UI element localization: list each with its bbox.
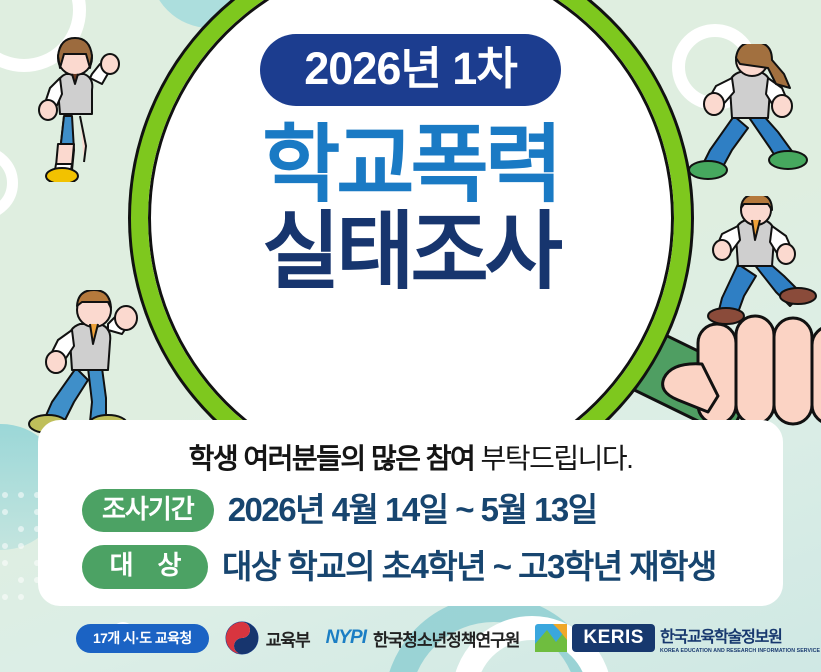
target-value: 대상 학교의 초4학년 ~ 고3학년 재학생 <box>222 549 716 585</box>
nypi-logo: NYPI 한국청소년정책연구원 <box>326 626 520 651</box>
keris-emblem-icon <box>535 624 567 652</box>
footer-logos: 17개 시·도 교육청 교육부 NYPI 한국청소년정책연구원 KERIS 한국… <box>0 616 821 660</box>
decor-circle-teal-top <box>150 0 270 28</box>
lead-text-bold: 학생 여러분들의 많은 참여 <box>189 443 475 474</box>
headline-line-1: 학교폭력 <box>0 124 821 207</box>
info-panel: 학생 여러분들의 많은 참여 부탁드립니다. 조사기간 2026년 4월 14일… <box>38 420 783 606</box>
nypi-wordmark-icon: NYPI <box>326 627 366 649</box>
offices-badge: 17개 시·도 교육청 <box>76 624 209 653</box>
keris-wordmark: KERIS <box>572 624 655 652</box>
title-block: 2026년 1차 학교폭력 실태조사 <box>0 34 821 295</box>
keris-label-en: KOREA EDUCATION AND RESEARCH INFORMATION… <box>660 648 820 654</box>
keris-label-ko: 한국교육학술정보원 <box>660 623 820 647</box>
target-label-badge: 대 상 <box>82 545 208 589</box>
lead-text: 학생 여러분들의 많은 참여 부탁드립니다. <box>38 442 783 476</box>
moe-logo: 교육부 <box>225 621 310 655</box>
lead-text-light: 부탁드립니다. <box>474 443 632 474</box>
keris-names: 한국교육학술정보원 KOREA EDUCATION AND RESEARCH I… <box>660 623 820 654</box>
period-value: 2026년 4월 14일 ~ 5월 13일 <box>228 492 597 528</box>
nypi-label: 한국청소년정책연구원 <box>373 626 519 651</box>
keris-logo: KERIS 한국교육학술정보원 KOREA EDUCATION AND RESE… <box>535 623 820 654</box>
period-label-badge: 조사기간 <box>82 489 214 533</box>
headline-line-2: 실태조사 <box>0 211 821 294</box>
poster-root: 2026년 1차 학교폭력 실태조사 학생 여러분들의 많은 참여 부탁드립니다… <box>0 0 821 672</box>
taegeuk-korea-emblem-icon <box>225 621 259 655</box>
moe-label: 교육부 <box>266 626 310 651</box>
student-boy-running-left-icon <box>22 290 152 438</box>
info-row-period: 조사기간 2026년 4월 14일 ~ 5월 13일 <box>38 489 783 533</box>
info-row-target: 대 상 대상 학교의 초4학년 ~ 고3학년 재학생 <box>38 545 783 589</box>
year-badge: 2026년 1차 <box>260 34 560 106</box>
